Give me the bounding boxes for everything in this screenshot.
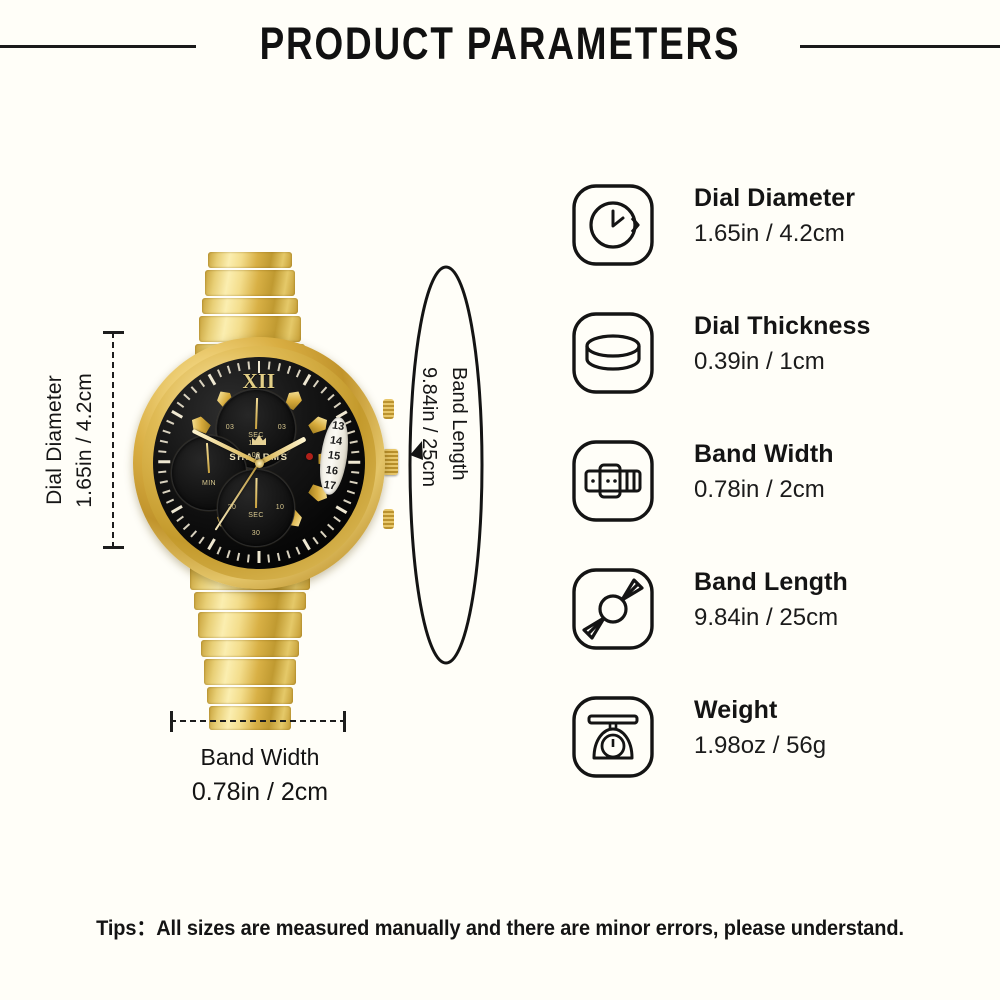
chrono-pusher-bottom: [383, 509, 394, 529]
spec-value: 0.39in / 1cm: [694, 344, 870, 380]
dial-diameter-annotation: Dial Diameter 1.65in / 4.2cm: [38, 332, 102, 548]
spec-name: Dial Thickness: [694, 308, 870, 344]
page-title: PRODUCT PARAMETERS: [90, 14, 910, 74]
date-number: 13: [331, 418, 345, 435]
date-indicator-dot: [306, 453, 313, 460]
spec-name: Dial Diameter: [694, 180, 855, 216]
disc-thickness-icon: [570, 310, 656, 396]
subdial-seconds-label: SEC: [218, 512, 294, 519]
subdial-seconds-bottom-number: 30: [218, 530, 294, 537]
spec-value: 1.65in / 4.2cm: [694, 216, 855, 252]
date-number: 15: [327, 448, 341, 465]
band-length-annotation-value: 9.84in / 25cm: [414, 367, 443, 487]
watch-dial: XII SEC 1/10 00 03 03 MIN: [153, 357, 365, 569]
page-header: PRODUCT PARAMETERS: [0, 0, 1000, 96]
watch-illustration: Dial Diameter 1.65in / 4.2cm: [0, 100, 520, 860]
band-width-annotation: Band Width 0.78in / 2cm: [100, 740, 420, 810]
belt-buckle-icon: [570, 438, 656, 524]
subdial-sec-tenth-right-number: 03: [243, 424, 321, 431]
band-width-annotation-label: Band Width: [100, 740, 420, 774]
watch-bezel: XII SEC 1/10 00 03 03 MIN: [133, 337, 385, 589]
spec-value: 1.98oz / 56g: [694, 728, 826, 764]
date-number: 17: [323, 477, 337, 494]
watch-case: XII SEC 1/10 00 03 03 MIN: [133, 337, 385, 589]
spec-row-band-length: Band Length 9.84in / 25cm: [570, 562, 990, 690]
kitchen-scale-icon: [570, 694, 656, 780]
tips-note: Tips：All sizes are measured manually and…: [25, 912, 975, 942]
spec-row-dial-diameter: Dial Diameter 1.65in / 4.2cm: [570, 178, 990, 306]
dial-diameter-annotation-value: 1.65in / 4.2cm: [70, 373, 100, 508]
spec-name: Weight: [694, 692, 826, 728]
spec-row-dial-thickness: Dial Thickness 0.39in / 1cm: [570, 306, 990, 434]
subdial-seconds-right-number: 10: [242, 504, 318, 511]
spec-name: Band Width: [694, 436, 834, 472]
band-width-annotation-value: 0.78in / 2cm: [100, 774, 420, 810]
product-parameters-page: PRODUCT PARAMETERS Dial Diameter 1.65in …: [0, 0, 1000, 1000]
watch-strap-icon: [570, 566, 656, 652]
band-length-annotation-label: Band Length: [444, 367, 473, 480]
chrono-pusher-top: [383, 399, 394, 419]
subdial-sec-tenth-label-1: SEC: [217, 432, 295, 439]
spec-value: 0.78in / 2cm: [694, 472, 834, 508]
hands-pin: [255, 459, 264, 468]
spec-row-weight: Weight 1.98oz / 56g: [570, 690, 990, 818]
spec-list: Dial Diameter 1.65in / 4.2cm Dial Thickn…: [570, 178, 990, 818]
spec-name: Band Length: [694, 564, 848, 600]
watch-dial-icon: [570, 182, 656, 268]
spec-row-band-width: Band Width 0.78in / 2cm: [570, 434, 990, 562]
spec-value: 9.84in / 25cm: [694, 600, 848, 636]
date-number: 14: [329, 433, 343, 450]
band-length-annotation: Band Length 9.84in / 25cm: [396, 255, 496, 675]
dial-diameter-annotation-label: Dial Diameter: [40, 375, 70, 505]
date-number: 16: [325, 463, 339, 480]
